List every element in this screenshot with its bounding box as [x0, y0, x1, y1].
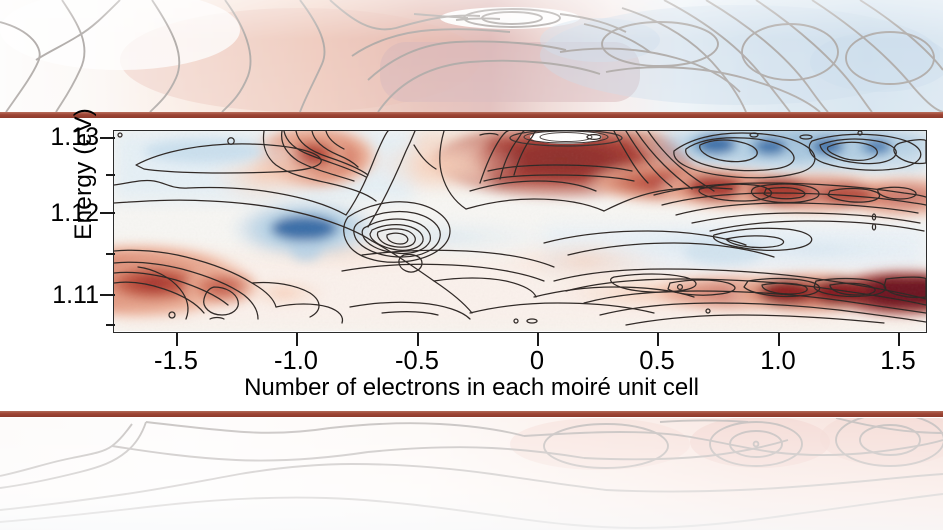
y-tick-minor-3 — [106, 324, 115, 326]
x-tick-label-7: 1.5 — [853, 347, 943, 376]
x-tick-label-6: 1.0 — [733, 347, 823, 376]
x-tick-label-2: -1.0 — [251, 347, 341, 376]
y-tick-minor-1 — [106, 174, 115, 176]
main-contour-panel — [113, 130, 927, 333]
x-tick-7 — [898, 333, 900, 346]
neighbor-panel-top — [0, 0, 943, 112]
y-tick-major-1 — [100, 137, 115, 139]
x-tick-1 — [176, 333, 178, 346]
y-tick-label-1: 1.13 — [27, 123, 99, 152]
figure-panel: Energy (eV) 1.13 1.12 1.11 -1.5 -1.0 -0.… — [0, 0, 943, 530]
x-tick-label-3: -0.5 — [372, 347, 462, 376]
y-tick-major-2 — [100, 212, 115, 214]
x-tick-2 — [296, 333, 298, 346]
x-tick-4 — [537, 333, 539, 346]
panel-divider-bottom — [0, 411, 943, 417]
x-tick-6 — [778, 333, 780, 346]
x-axis-label: Number of electrons in each moiré unit c… — [0, 374, 943, 402]
y-tick-label-3: 1.11 — [27, 281, 99, 310]
x-tick-3 — [417, 333, 419, 346]
y-tick-label-2: 1.12 — [27, 199, 99, 228]
y-tick-minor-2 — [106, 253, 115, 255]
y-axis-label: Energy (eV) — [70, 84, 98, 264]
y-tick-major-3 — [100, 294, 115, 296]
x-tick-label-5: 0.5 — [612, 347, 702, 376]
x-tick-5 — [657, 333, 659, 346]
neighbor-panel-bottom — [0, 418, 943, 530]
panel-divider-top — [0, 112, 943, 118]
x-tick-label-1: -1.5 — [131, 347, 221, 376]
x-tick-label-4: 0 — [492, 347, 582, 376]
